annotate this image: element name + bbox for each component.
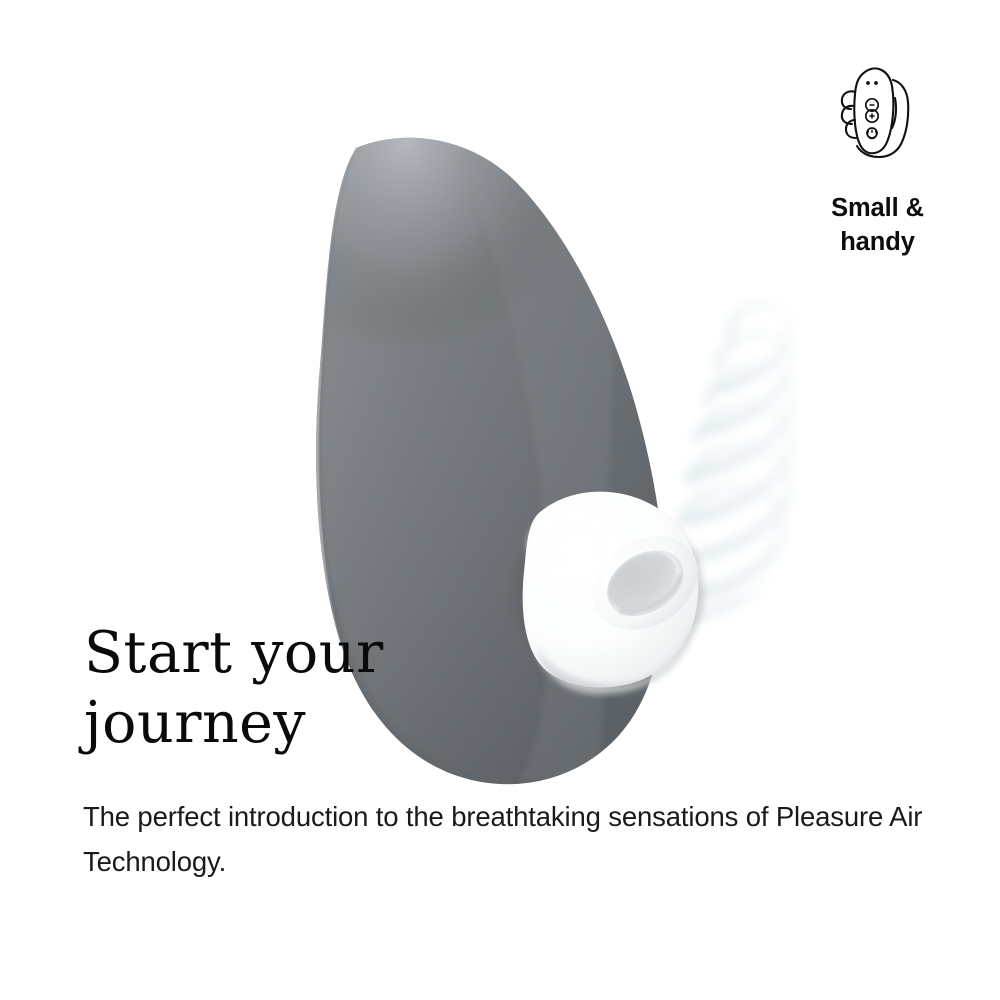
headline: Start your journey [84, 618, 514, 758]
feature-badge-label: Small & handy [831, 192, 924, 259]
device-nozzle [512, 492, 715, 694]
hand-holding-device-icon [835, 58, 921, 170]
feature-badge-small-handy: Small & handy [795, 58, 960, 259]
marketing-banner: Small & handy Start your journey The per… [0, 0, 1000, 1000]
pleasure-air-wave [648, 304, 792, 620]
body-copy: The perfect introduction to the breathta… [83, 795, 928, 884]
